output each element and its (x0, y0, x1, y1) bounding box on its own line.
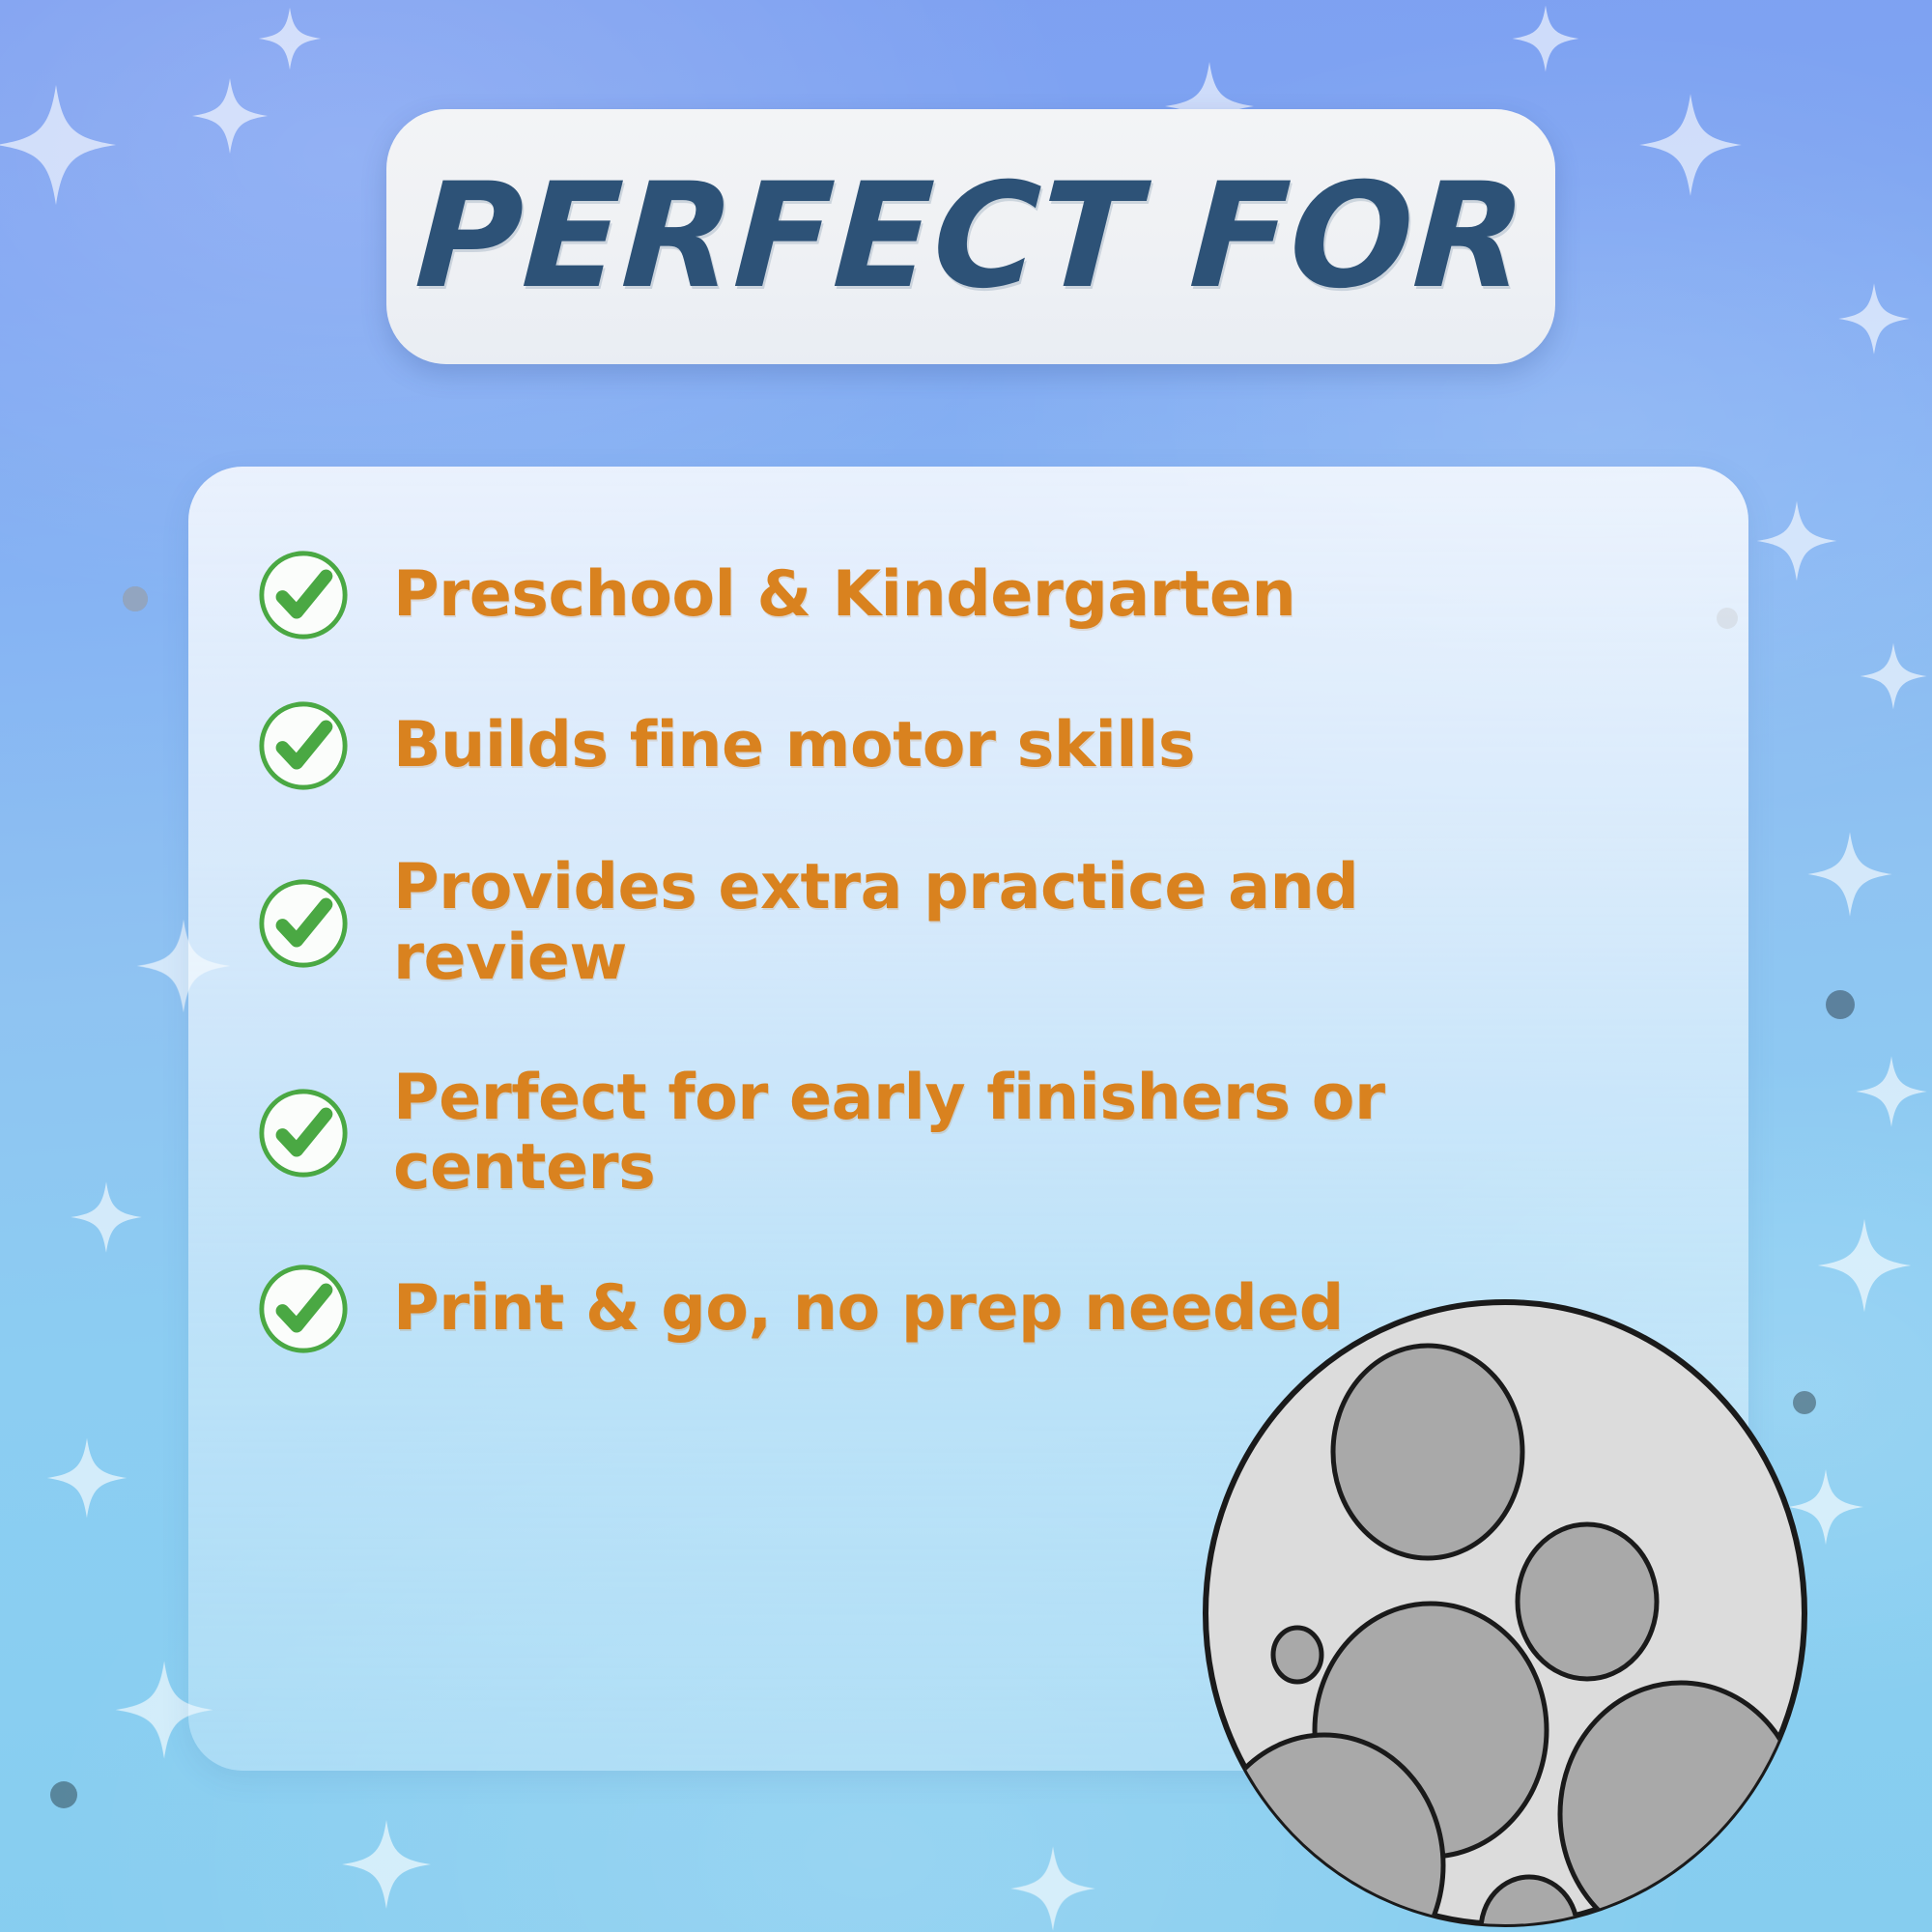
check-circle-icon (256, 1262, 351, 1356)
list-item-label: Preschool & Kindergarten (393, 560, 1295, 631)
check-circle-icon (256, 876, 351, 971)
list-item: Preschool & Kindergarten (256, 548, 1681, 642)
check-circle-icon (256, 698, 351, 793)
list-item-label: Builds fine motor skills (393, 711, 1195, 781)
list-item-label: Provides extra practice and review (393, 853, 1417, 994)
check-circle-icon (256, 1086, 351, 1180)
list-item-label: Perfect for early finishers or centers (393, 1064, 1417, 1205)
list-item: Provides extra practice and review (256, 853, 1681, 994)
check-circle-icon (256, 548, 351, 642)
benefits-list: Preschool & Kindergarten Builds fine mot… (188, 467, 1748, 1771)
list-item: Perfect for early finishers or centers (256, 1064, 1681, 1205)
list-item: Print & go, no prep needed (256, 1262, 1681, 1356)
perfect-for-title-banner: PERFECT FOR (386, 109, 1555, 364)
list-item-label: Print & go, no prep needed (393, 1274, 1344, 1345)
page-title: PERFECT FOR (412, 164, 1529, 309)
list-item: Builds fine motor skills (256, 698, 1681, 793)
